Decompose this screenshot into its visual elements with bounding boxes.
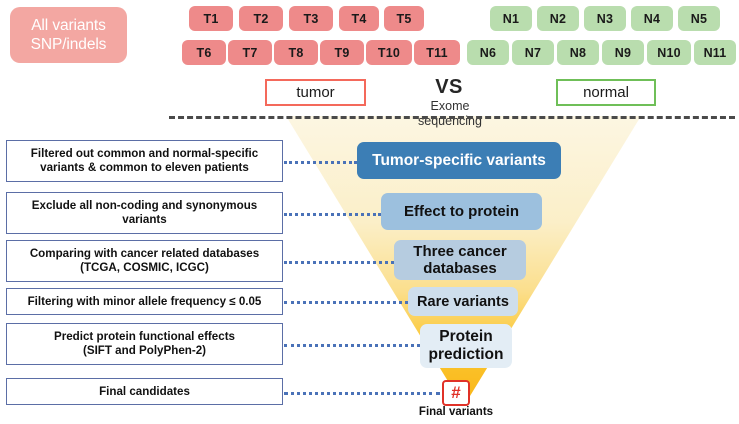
- filter-step-box: Filtered out common and normal-specific …: [6, 140, 283, 182]
- funnel-stage-box: Rare variants: [408, 287, 518, 316]
- funnel-stage-line2: databases: [413, 260, 506, 277]
- normal-sample-chip[interactable]: N2: [537, 6, 579, 31]
- filter-step-line1: Filtering with minor allele frequency ≤ …: [28, 295, 262, 309]
- filter-step-line1: Comparing with cancer related databases: [30, 247, 259, 261]
- funnel-stage-line1: Rare variants: [417, 294, 509, 310]
- final-variants-count-box: #: [442, 380, 470, 406]
- filter-step-line1: Filtered out common and normal-specific: [31, 147, 258, 161]
- diagram-canvas: All variants SNP/indels T1 T2 T3 T4 T5 T…: [0, 0, 739, 424]
- tumor-sample-chip[interactable]: T11: [414, 40, 460, 65]
- funnel-stage-box: Effect to protein: [381, 193, 542, 230]
- normal-sample-chip[interactable]: N9: [602, 40, 644, 65]
- filter-step-box: Filtering with minor allele frequency ≤ …: [6, 288, 283, 315]
- funnel-stage-box: Tumor-specific variants: [357, 142, 561, 179]
- normal-sample-chip[interactable]: N10: [647, 40, 691, 65]
- tumor-sample-chip[interactable]: T8: [274, 40, 318, 65]
- funnel-stage-box: Protein prediction: [420, 324, 512, 368]
- tumor-sample-chip[interactable]: T7: [228, 40, 272, 65]
- connector-line: [284, 301, 408, 304]
- funnel-stage-line1: Three cancer: [413, 243, 506, 260]
- filter-step-line2: variants: [32, 213, 257, 227]
- all-variants-line2: SNP/indels: [31, 35, 107, 54]
- normal-sample-chip[interactable]: N3: [584, 6, 626, 31]
- sequencing-method-label: Exome sequencing: [404, 99, 496, 128]
- funnel-stage-line1: Tumor-specific variants: [372, 152, 546, 170]
- all-variants-line1: All variants: [31, 16, 106, 35]
- filter-step-line1: Final candidates: [99, 385, 190, 399]
- filter-step-line2: (TCGA, COSMIC, ICGC): [30, 261, 259, 275]
- normal-sample-chip[interactable]: N6: [467, 40, 509, 65]
- tumor-sample-chip[interactable]: T1: [189, 6, 233, 31]
- connector-line: [284, 261, 394, 264]
- dashed-separator: [169, 116, 735, 119]
- tumor-sample-chip[interactable]: T4: [339, 6, 379, 31]
- filter-step-box: Final candidates: [6, 378, 283, 405]
- normal-sample-chip[interactable]: N8: [557, 40, 599, 65]
- tumor-sample-chip[interactable]: T5: [384, 6, 424, 31]
- filter-step-box: Predict protein functional effects (SIFT…: [6, 323, 283, 365]
- connector-line: [284, 344, 420, 347]
- funnel-stage-line2: prediction: [429, 346, 504, 364]
- tumor-sample-chip[interactable]: T2: [239, 6, 283, 31]
- tumor-sample-chip[interactable]: T9: [320, 40, 364, 65]
- connector-line: [284, 392, 440, 395]
- filter-step-line1: Exclude all non-coding and synonymous: [32, 199, 257, 213]
- normal-group-label: normal: [556, 79, 656, 106]
- tumor-sample-chip[interactable]: T6: [182, 40, 226, 65]
- funnel-stage-line1: Protein: [429, 328, 504, 346]
- final-variants-caption: Final variants: [396, 406, 516, 418]
- normal-sample-chip[interactable]: N11: [694, 40, 736, 65]
- connector-line: [284, 161, 357, 164]
- tumor-sample-chip[interactable]: T10: [366, 40, 412, 65]
- normal-sample-chip[interactable]: N1: [490, 6, 532, 31]
- filter-step-line2: variants & common to eleven patients: [31, 161, 258, 175]
- all-variants-legend: All variants SNP/indels: [10, 7, 127, 63]
- sequencing-method-line1: Exome: [404, 99, 496, 114]
- funnel-stage-line1: Effect to protein: [404, 203, 519, 220]
- funnel-stage-box: Three cancer databases: [394, 240, 526, 280]
- tumor-group-label: tumor: [265, 79, 366, 106]
- connector-line: [284, 213, 381, 216]
- normal-sample-chip[interactable]: N5: [678, 6, 720, 31]
- filter-step-box: Exclude all non-coding and synonymous va…: [6, 192, 283, 234]
- vs-label: VS: [419, 76, 479, 99]
- normal-sample-chip[interactable]: N4: [631, 6, 673, 31]
- tumor-sample-chip[interactable]: T3: [289, 6, 333, 31]
- filter-step-line1: Predict protein functional effects: [54, 330, 235, 344]
- normal-sample-chip[interactable]: N7: [512, 40, 554, 65]
- filter-step-line2: (SIFT and PolyPhen-2): [54, 344, 235, 358]
- filter-step-box: Comparing with cancer related databases …: [6, 240, 283, 282]
